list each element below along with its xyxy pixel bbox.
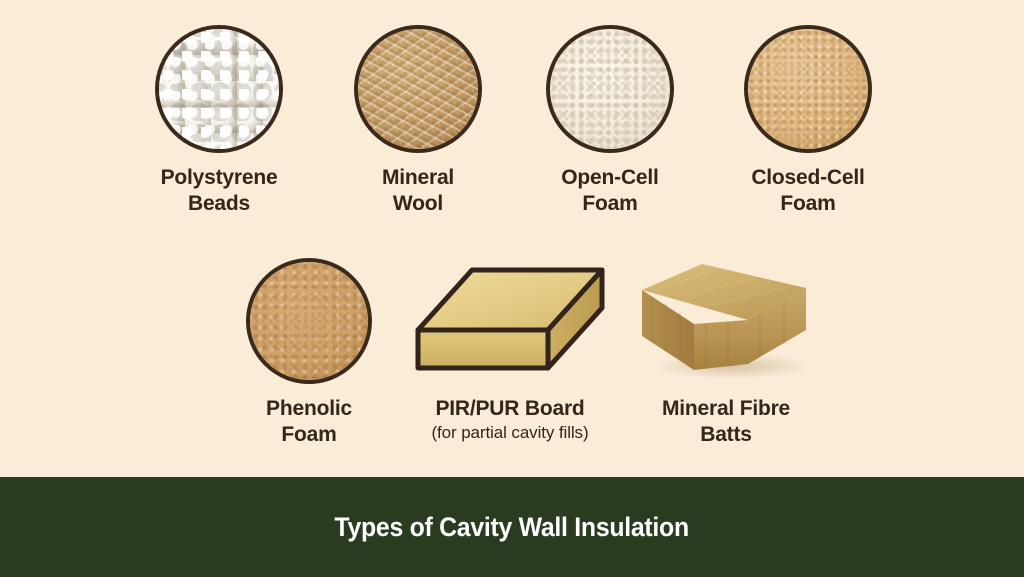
sample-item-mineral-wool: Mineral Wool: [340, 25, 496, 216]
wool-texture-icon: [358, 29, 478, 149]
sample-item-polystyrene-beads: Polystyrene Beads: [141, 25, 297, 216]
sample-label: Mineral Wool: [340, 165, 496, 216]
closed-cell-texture-icon: [748, 29, 868, 149]
sample-label: PIR/PUR Board: [390, 396, 630, 422]
circle-sample-icon: [546, 25, 674, 153]
fibre-batt-block-icon: [636, 258, 816, 384]
circle-sample-icon: [155, 25, 283, 153]
sample-label: Mineral Fibre Batts: [620, 396, 832, 447]
sample-label: Polystyrene Beads: [141, 165, 297, 216]
sample-label: Closed-Cell Foam: [730, 165, 886, 216]
sample-item-open-cell-foam: Open-Cell Foam: [532, 25, 688, 216]
phenolic-texture-icon: [250, 262, 368, 380]
circle-sample-icon: [246, 258, 372, 384]
samples-area: Polystyrene Beads Mineral Wool Open-Cell…: [0, 0, 1024, 477]
insulation-board-icon: [410, 262, 610, 384]
footer-banner: Types of Cavity Wall Insulation: [0, 477, 1024, 577]
infographic-root: Polystyrene Beads Mineral Wool Open-Cell…: [0, 0, 1024, 577]
mineral-fibre-batts-swatch: [636, 258, 816, 384]
sample-item-mineral-fibre-batts: Mineral Fibre Batts: [620, 258, 832, 447]
sample-item-pir-pur-board: PIR/PUR Board (for partial cavity fills): [390, 262, 630, 443]
circle-sample-icon: [744, 25, 872, 153]
polystyrene-beads-swatch: [155, 25, 283, 153]
mineral-wool-swatch: [354, 25, 482, 153]
sample-sublabel: (for partial cavity fills): [390, 423, 630, 443]
open-cell-texture-icon: [550, 29, 670, 149]
phenolic-foam-swatch: [246, 258, 372, 384]
sample-item-closed-cell-foam: Closed-Cell Foam: [730, 25, 886, 216]
sample-label: Phenolic Foam: [246, 396, 372, 447]
sample-item-phenolic-foam: Phenolic Foam: [246, 258, 372, 447]
beads-texture-icon: [159, 29, 279, 149]
open-cell-foam-swatch: [546, 25, 674, 153]
closed-cell-foam-swatch: [744, 25, 872, 153]
banner-title: Types of Cavity Wall Insulation: [335, 512, 689, 543]
pir-pur-board-swatch: [410, 262, 610, 384]
circle-sample-icon: [354, 25, 482, 153]
sample-label: Open-Cell Foam: [532, 165, 688, 216]
